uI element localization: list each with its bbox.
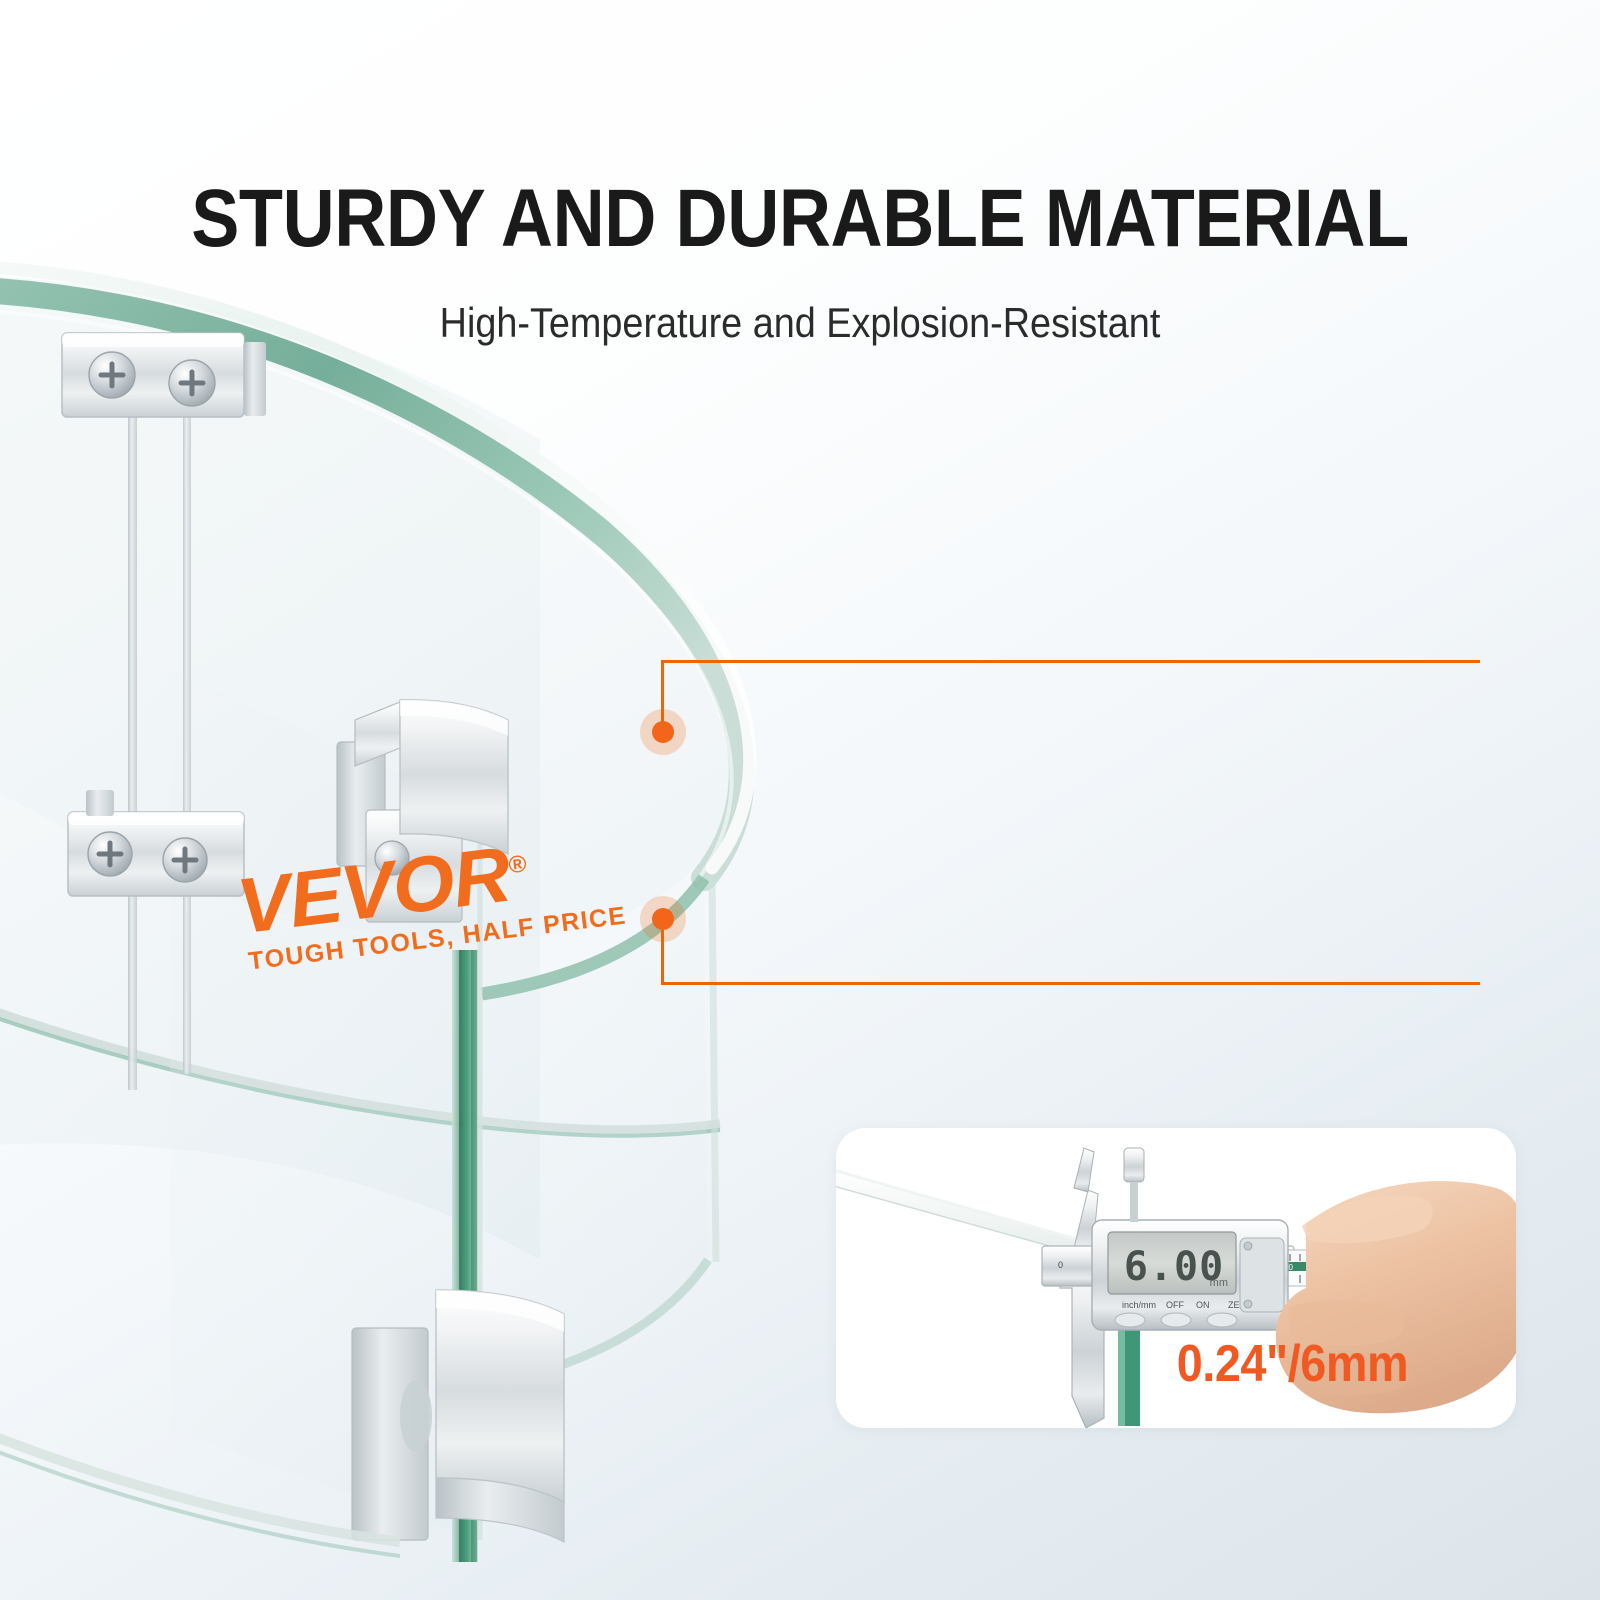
- connector-bottom: [352, 1290, 564, 1542]
- screw-head: [89, 352, 135, 398]
- marketing-image-canvas: STURDY AND DURABLE MATERIAL High-Tempera…: [0, 0, 1600, 1600]
- callout-2-rule: [661, 982, 1480, 985]
- measurement-inset-panel: 8090100 110120130 0 6.00 mm inch/mm OFF …: [836, 1128, 1516, 1428]
- callout-1-marker-dot: [640, 709, 686, 755]
- inset-measurement-caption: 0.24"/6mm: [1177, 1336, 1408, 1392]
- connector-top-left: [62, 333, 266, 417]
- registered-trademark-icon: ®: [507, 850, 528, 879]
- callout-1-rule: [661, 660, 1480, 663]
- screw-head: [88, 832, 132, 876]
- caliper-unit: mm: [1210, 1277, 1228, 1289]
- caliper-zero-label: 0: [1058, 1260, 1063, 1270]
- svg-text:OFF: OFF: [1166, 1300, 1184, 1310]
- svg-text:inch/mm: inch/mm: [1122, 1300, 1156, 1310]
- svg-text:ON: ON: [1196, 1300, 1210, 1310]
- callout-2-leader-line: [661, 930, 664, 985]
- screw-head: [169, 360, 215, 406]
- screw-head: [163, 838, 207, 882]
